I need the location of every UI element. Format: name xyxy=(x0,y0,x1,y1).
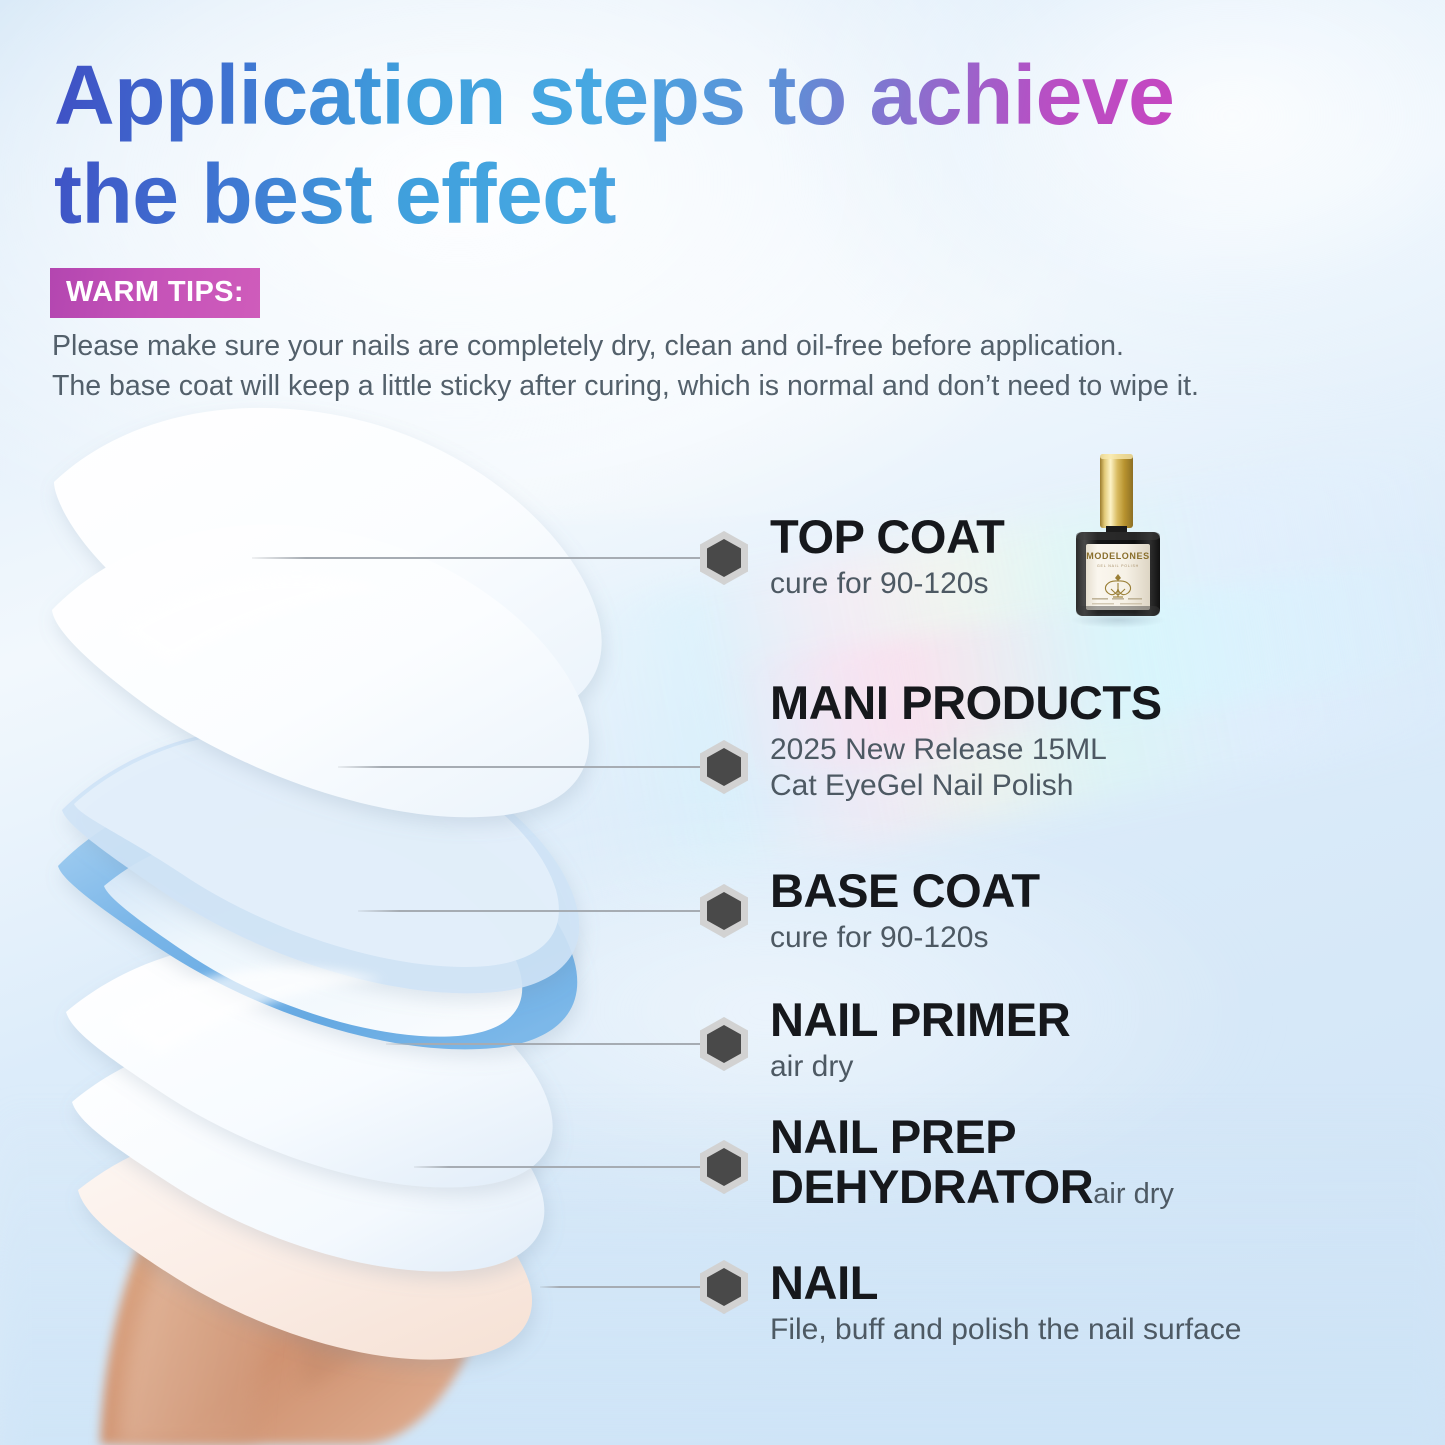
leader-line-top-coat xyxy=(252,557,704,559)
product-bottle: MODELONES GEL NAIL POLISH xyxy=(1064,452,1172,624)
bottle-brand-subtext: GEL NAIL POLISH xyxy=(1097,564,1139,568)
step-title-nail: NAIL xyxy=(770,1258,1241,1308)
top-coat-layer xyxy=(52,408,602,817)
step-label-mani-products: MANI PRODUCTS 2025 New Release 15ML Cat … xyxy=(770,678,1162,805)
step-title-dehydrator-word: DEHYDRATOR xyxy=(770,1160,1093,1213)
step-title-dehydrator-line-1: NAIL PREP xyxy=(770,1112,1174,1162)
leader-line-base-coat xyxy=(358,910,704,912)
step-title-mani-products: MANI PRODUCTS xyxy=(770,678,1162,728)
bottle-cap xyxy=(1100,454,1133,528)
step-subtitle-mani-products: 2025 New Release 15ML Cat EyeGel Nail Po… xyxy=(770,732,1162,805)
step-label-base-coat: BASE COAT cure for 90-120s xyxy=(770,866,1040,956)
step-inline-note-dehydrator: air dry xyxy=(1093,1178,1174,1210)
warm-tips-line-1: Please make sure your nails are complete… xyxy=(52,326,1412,366)
step-subtitle-base-coat: cure for 90-120s xyxy=(770,920,1040,957)
step-subtitle-top-coat: cure for 90-120s xyxy=(770,566,1004,603)
bottle-svg: MODELONES GEL NAIL POLISH xyxy=(1064,452,1172,624)
step-title-nail-primer: NAIL PRIMER xyxy=(770,995,1070,1045)
warm-tips-badge: WARM TIPS: xyxy=(50,268,260,318)
leader-line-dehydrator xyxy=(414,1166,704,1168)
step-title-top-coat: TOP COAT xyxy=(770,512,1004,562)
hexagon-marker-nail[interactable] xyxy=(700,1260,748,1314)
step-title-base-coat: BASE COAT xyxy=(770,866,1040,916)
bottle-shadow xyxy=(1070,612,1166,628)
step-label-nail-primer: NAIL PRIMER air dry xyxy=(770,995,1070,1085)
step-title-dehydrator-line-2: DEHYDRATORair dry xyxy=(770,1162,1174,1212)
leader-line-nail xyxy=(540,1286,704,1288)
step-subtitle-mani-line-1: 2025 New Release 15ML xyxy=(770,732,1162,769)
step-subtitle-nail-primer: air dry xyxy=(770,1049,1070,1086)
step-subtitle-mani-line-2: Cat EyeGel Nail Polish xyxy=(770,768,1162,805)
infographic-poster: Application steps to achieve the best ef… xyxy=(0,0,1445,1445)
hexagon-marker-mani[interactable] xyxy=(700,740,748,794)
leader-line-mani xyxy=(338,766,704,768)
step-label-nail: NAIL File, buff and polish the nail surf… xyxy=(770,1258,1241,1348)
hexagon-marker-top-coat[interactable] xyxy=(700,531,748,585)
page-title-line-1: Application steps to achieve xyxy=(54,48,1174,142)
step-subtitle-nail: File, buff and polish the nail surface xyxy=(770,1312,1241,1349)
hexagon-marker-primer[interactable] xyxy=(700,1017,748,1071)
leader-line-primer xyxy=(386,1043,704,1045)
bottle-brand-text: MODELONES xyxy=(1086,551,1149,561)
step-label-top-coat: TOP COAT cure for 90-120s xyxy=(770,512,1004,602)
step-label-nail-prep-dehydrator: NAIL PREP DEHYDRATORair dry xyxy=(770,1112,1174,1212)
hexagon-marker-dehydrator[interactable] xyxy=(700,1140,748,1194)
page-title: Application steps to achieve the best ef… xyxy=(54,46,1394,244)
page-title-line-2: the best effect xyxy=(54,145,1394,244)
hexagon-marker-base-coat[interactable] xyxy=(700,884,748,938)
